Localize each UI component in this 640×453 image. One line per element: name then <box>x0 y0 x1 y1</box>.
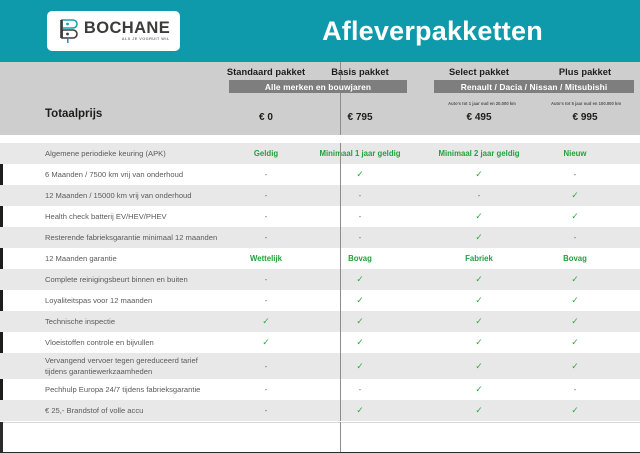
cell-basis: ✓ <box>313 361 407 372</box>
dash-icon: - <box>574 233 577 242</box>
total-price-select: € 495 <box>431 110 527 124</box>
cell-select: Fabriek <box>431 254 527 263</box>
check-icon: ✓ <box>475 337 483 347</box>
check-icon: ✓ <box>475 232 483 242</box>
dash-icon: - <box>359 233 362 242</box>
header-body-gap <box>0 135 640 143</box>
table-row: Health check batterij EV/HEV/PHEV--✓✓ <box>0 206 640 227</box>
cell-basis: ✓ <box>313 295 407 306</box>
cell-select: ✓ <box>431 211 527 222</box>
cell-standaard: - <box>219 406 313 415</box>
package-name-basis: Basis pakket <box>313 67 407 77</box>
value-label: Bovag <box>563 254 587 263</box>
cell-plus: ✓ <box>527 337 623 348</box>
cell-basis: Minimaal 1 jaar geldig <box>313 149 407 158</box>
cell-basis: ✓ <box>313 274 407 285</box>
row-left-marker <box>0 164 3 185</box>
row-left-marker <box>0 206 3 227</box>
feature-label: Loyaliteitspas voor 12 maanden <box>0 295 219 306</box>
dash-icon: - <box>265 170 268 179</box>
logo-tagline: ALS JE VOORUIT WIL <box>122 38 170 42</box>
table-row: Pechhulp Europa 24/7 tijdens fabrieksgar… <box>0 379 640 400</box>
check-icon: ✓ <box>475 211 483 221</box>
dash-icon: - <box>478 191 481 200</box>
value-label: Minimaal 2 jaar geldig <box>438 149 519 158</box>
cell-standaard: - <box>219 212 313 221</box>
check-icon: ✓ <box>475 274 483 284</box>
table-row: Vloeistoffen controle en bijvullen✓✓✓✓ <box>0 332 640 353</box>
cell-standaard: Geldig <box>219 149 313 158</box>
check-icon: ✓ <box>475 405 483 415</box>
row-left-marker <box>0 379 3 400</box>
cell-plus: ✓ <box>527 274 623 285</box>
scope-band-left: Alle merken en bouwjaren <box>229 80 407 93</box>
cell-basis: - <box>313 233 407 242</box>
feature-label: Pechhulp Europa 24/7 tijdens fabrieksgar… <box>0 384 219 395</box>
table-row: Algemene periodieke keuring (APK)GeldigM… <box>0 143 640 164</box>
feature-label: Technische inspectie <box>0 316 219 327</box>
cell-select: ✓ <box>431 405 527 416</box>
table-row: Technische inspectie✓✓✓✓ <box>0 311 640 332</box>
feature-label: 12 Maanden garantie <box>0 253 219 264</box>
cell-standaard: - <box>219 191 313 200</box>
footer-column-divider <box>340 422 341 453</box>
cell-basis: - <box>313 191 407 200</box>
package-name-standaard: Standaard pakket <box>219 67 313 77</box>
table-footer-strip <box>0 422 640 453</box>
dash-icon: - <box>265 362 268 371</box>
cell-standaard: Wettelijk <box>219 254 313 263</box>
cell-standaard: ✓ <box>219 316 313 327</box>
cell-select: ✓ <box>431 169 527 180</box>
check-icon: ✓ <box>475 295 483 305</box>
check-icon: ✓ <box>475 361 483 371</box>
table-row: 12 Maanden / 15000 km vrij van onderhoud… <box>0 185 640 206</box>
total-price-basis: € 795 <box>313 110 407 124</box>
cell-basis: - <box>313 385 407 394</box>
cell-select: ✓ <box>431 361 527 372</box>
cell-basis: ✓ <box>313 337 407 348</box>
dash-icon: - <box>359 385 362 394</box>
check-icon: ✓ <box>262 316 270 326</box>
package-note-select: Auto's tot 1 jaar oud en 20.000 km <box>434 99 530 107</box>
check-icon: ✓ <box>475 169 483 179</box>
footer-left-marker <box>0 422 3 453</box>
feature-table: Algemene periodieke keuring (APK)GeldigM… <box>0 143 640 421</box>
check-icon: ✓ <box>262 337 270 347</box>
top-banner: BOCHANE ALS JE VOORUIT WIL Afleverpakket… <box>0 0 640 62</box>
feature-label: Health check batterij EV/HEV/PHEV <box>0 211 219 222</box>
cell-plus: - <box>527 170 623 179</box>
cell-standaard: - <box>219 170 313 179</box>
logo-wordmark: BOCHANE <box>84 20 170 37</box>
cell-basis: ✓ <box>313 405 407 416</box>
check-icon: ✓ <box>571 337 579 347</box>
value-label: Geldig <box>254 149 278 158</box>
dash-icon: - <box>265 385 268 394</box>
feature-label: Complete reinigingsbeurt binnen en buite… <box>0 274 219 285</box>
cell-plus: ✓ <box>527 295 623 306</box>
dash-icon: - <box>265 406 268 415</box>
cell-standaard: - <box>219 233 313 242</box>
cell-standaard: ✓ <box>219 337 313 348</box>
check-icon: ✓ <box>571 295 579 305</box>
dash-icon: - <box>265 191 268 200</box>
dash-icon: - <box>265 275 268 284</box>
feature-label: 6 Maanden / 7500 km vrij van onderhoud <box>0 169 219 180</box>
cell-basis: - <box>313 212 407 221</box>
check-icon: ✓ <box>571 274 579 284</box>
check-icon: ✓ <box>571 190 579 200</box>
value-label: Fabriek <box>465 254 493 263</box>
dash-icon: - <box>359 191 362 200</box>
row-left-marker <box>0 332 3 353</box>
value-label: Bovag <box>348 254 372 263</box>
feature-label: Algemene periodieke keuring (APK) <box>0 148 219 159</box>
table-row: Resterende fabrieksgarantie minimaal 12 … <box>0 227 640 248</box>
check-icon: ✓ <box>356 316 364 326</box>
package-note-plus: Auto's tot 5 jaar oud en 100.000 km <box>538 99 634 107</box>
table-row: 6 Maanden / 7500 km vrij van onderhoud-✓… <box>0 164 640 185</box>
cell-plus: - <box>527 233 623 242</box>
table-column-divider <box>340 143 341 421</box>
scope-band-right: Renault / Dacia / Nissan / Mitsubishi <box>434 80 634 93</box>
cell-select: ✓ <box>431 232 527 243</box>
cell-plus: Bovag <box>527 254 623 263</box>
check-icon: ✓ <box>475 316 483 326</box>
cell-basis: ✓ <box>313 169 407 180</box>
check-icon: ✓ <box>571 361 579 371</box>
page-title: Afleverpakketten <box>225 0 640 62</box>
cell-plus: ✓ <box>527 316 623 327</box>
dash-icon: - <box>359 212 362 221</box>
cell-select: ✓ <box>431 337 527 348</box>
check-icon: ✓ <box>356 295 364 305</box>
cell-plus: Nieuw <box>527 149 623 158</box>
row-left-marker <box>0 248 3 269</box>
cell-standaard: - <box>219 296 313 305</box>
check-icon: ✓ <box>356 361 364 371</box>
cell-standaard: - <box>219 275 313 284</box>
check-icon: ✓ <box>571 316 579 326</box>
check-icon: ✓ <box>475 384 483 394</box>
package-name-select: Select pakket <box>431 67 527 77</box>
cell-select: ✓ <box>431 295 527 306</box>
table-row: Loyaliteitspas voor 12 maanden-✓✓✓ <box>0 290 640 311</box>
dash-icon: - <box>265 212 268 221</box>
package-name-plus: Plus pakket <box>537 67 633 77</box>
cell-plus: ✓ <box>527 361 623 372</box>
check-icon: ✓ <box>571 211 579 221</box>
check-icon: ✓ <box>356 405 364 415</box>
feature-label: Vervangend vervoer tegen gereduceerd tar… <box>0 355 219 377</box>
value-label: Wettelijk <box>250 254 282 263</box>
bochane-logo: BOCHANE ALS JE VOORUIT WIL <box>47 11 180 51</box>
check-icon: ✓ <box>571 405 579 415</box>
feature-label: 12 Maanden / 15000 km vrij van onderhoud <box>0 190 219 201</box>
cell-plus: ✓ <box>527 405 623 416</box>
cell-basis: ✓ <box>313 316 407 327</box>
feature-label: Resterende fabrieksgarantie minimaal 12 … <box>0 232 219 243</box>
value-label: Minimaal 1 jaar geldig <box>319 149 400 158</box>
total-price-standaard: € 0 <box>219 110 313 124</box>
cell-select: ✓ <box>431 274 527 285</box>
cell-select: Minimaal 2 jaar geldig <box>431 149 527 158</box>
cell-basis: Bovag <box>313 254 407 263</box>
table-row: 12 Maanden garantieWettelijkBovagFabriek… <box>0 248 640 269</box>
feature-label: € 25,- Brandstof of volle accu <box>0 405 219 416</box>
table-row: Complete reinigingsbeurt binnen en buite… <box>0 269 640 290</box>
total-price-label: Totaalprijs <box>45 108 102 120</box>
cell-select: ✓ <box>431 316 527 327</box>
check-icon: ✓ <box>356 169 364 179</box>
dash-icon: - <box>265 233 268 242</box>
cell-select: ✓ <box>431 384 527 395</box>
value-label: Nieuw <box>564 149 587 158</box>
total-price-plus: € 995 <box>537 110 633 124</box>
dash-icon: - <box>574 385 577 394</box>
cell-select: - <box>431 191 527 200</box>
afleverpakketten-page: BOCHANE ALS JE VOORUIT WIL Afleverpakket… <box>0 0 640 453</box>
table-row: Vervangend vervoer tegen gereduceerd tar… <box>0 353 640 379</box>
check-icon: ✓ <box>356 274 364 284</box>
cell-plus: ✓ <box>527 211 623 222</box>
row-left-marker <box>0 290 3 311</box>
cell-plus: ✓ <box>527 190 623 201</box>
dash-icon: - <box>574 170 577 179</box>
feature-label: Vloeistoffen controle en bijvullen <box>0 337 219 348</box>
check-icon: ✓ <box>356 337 364 347</box>
cell-standaard: - <box>219 385 313 394</box>
cell-plus: - <box>527 385 623 394</box>
bochane-b-icon <box>59 18 79 44</box>
table-row: € 25,- Brandstof of volle accu-✓✓✓ <box>0 400 640 421</box>
dash-icon: - <box>265 296 268 305</box>
cell-standaard: - <box>219 362 313 371</box>
